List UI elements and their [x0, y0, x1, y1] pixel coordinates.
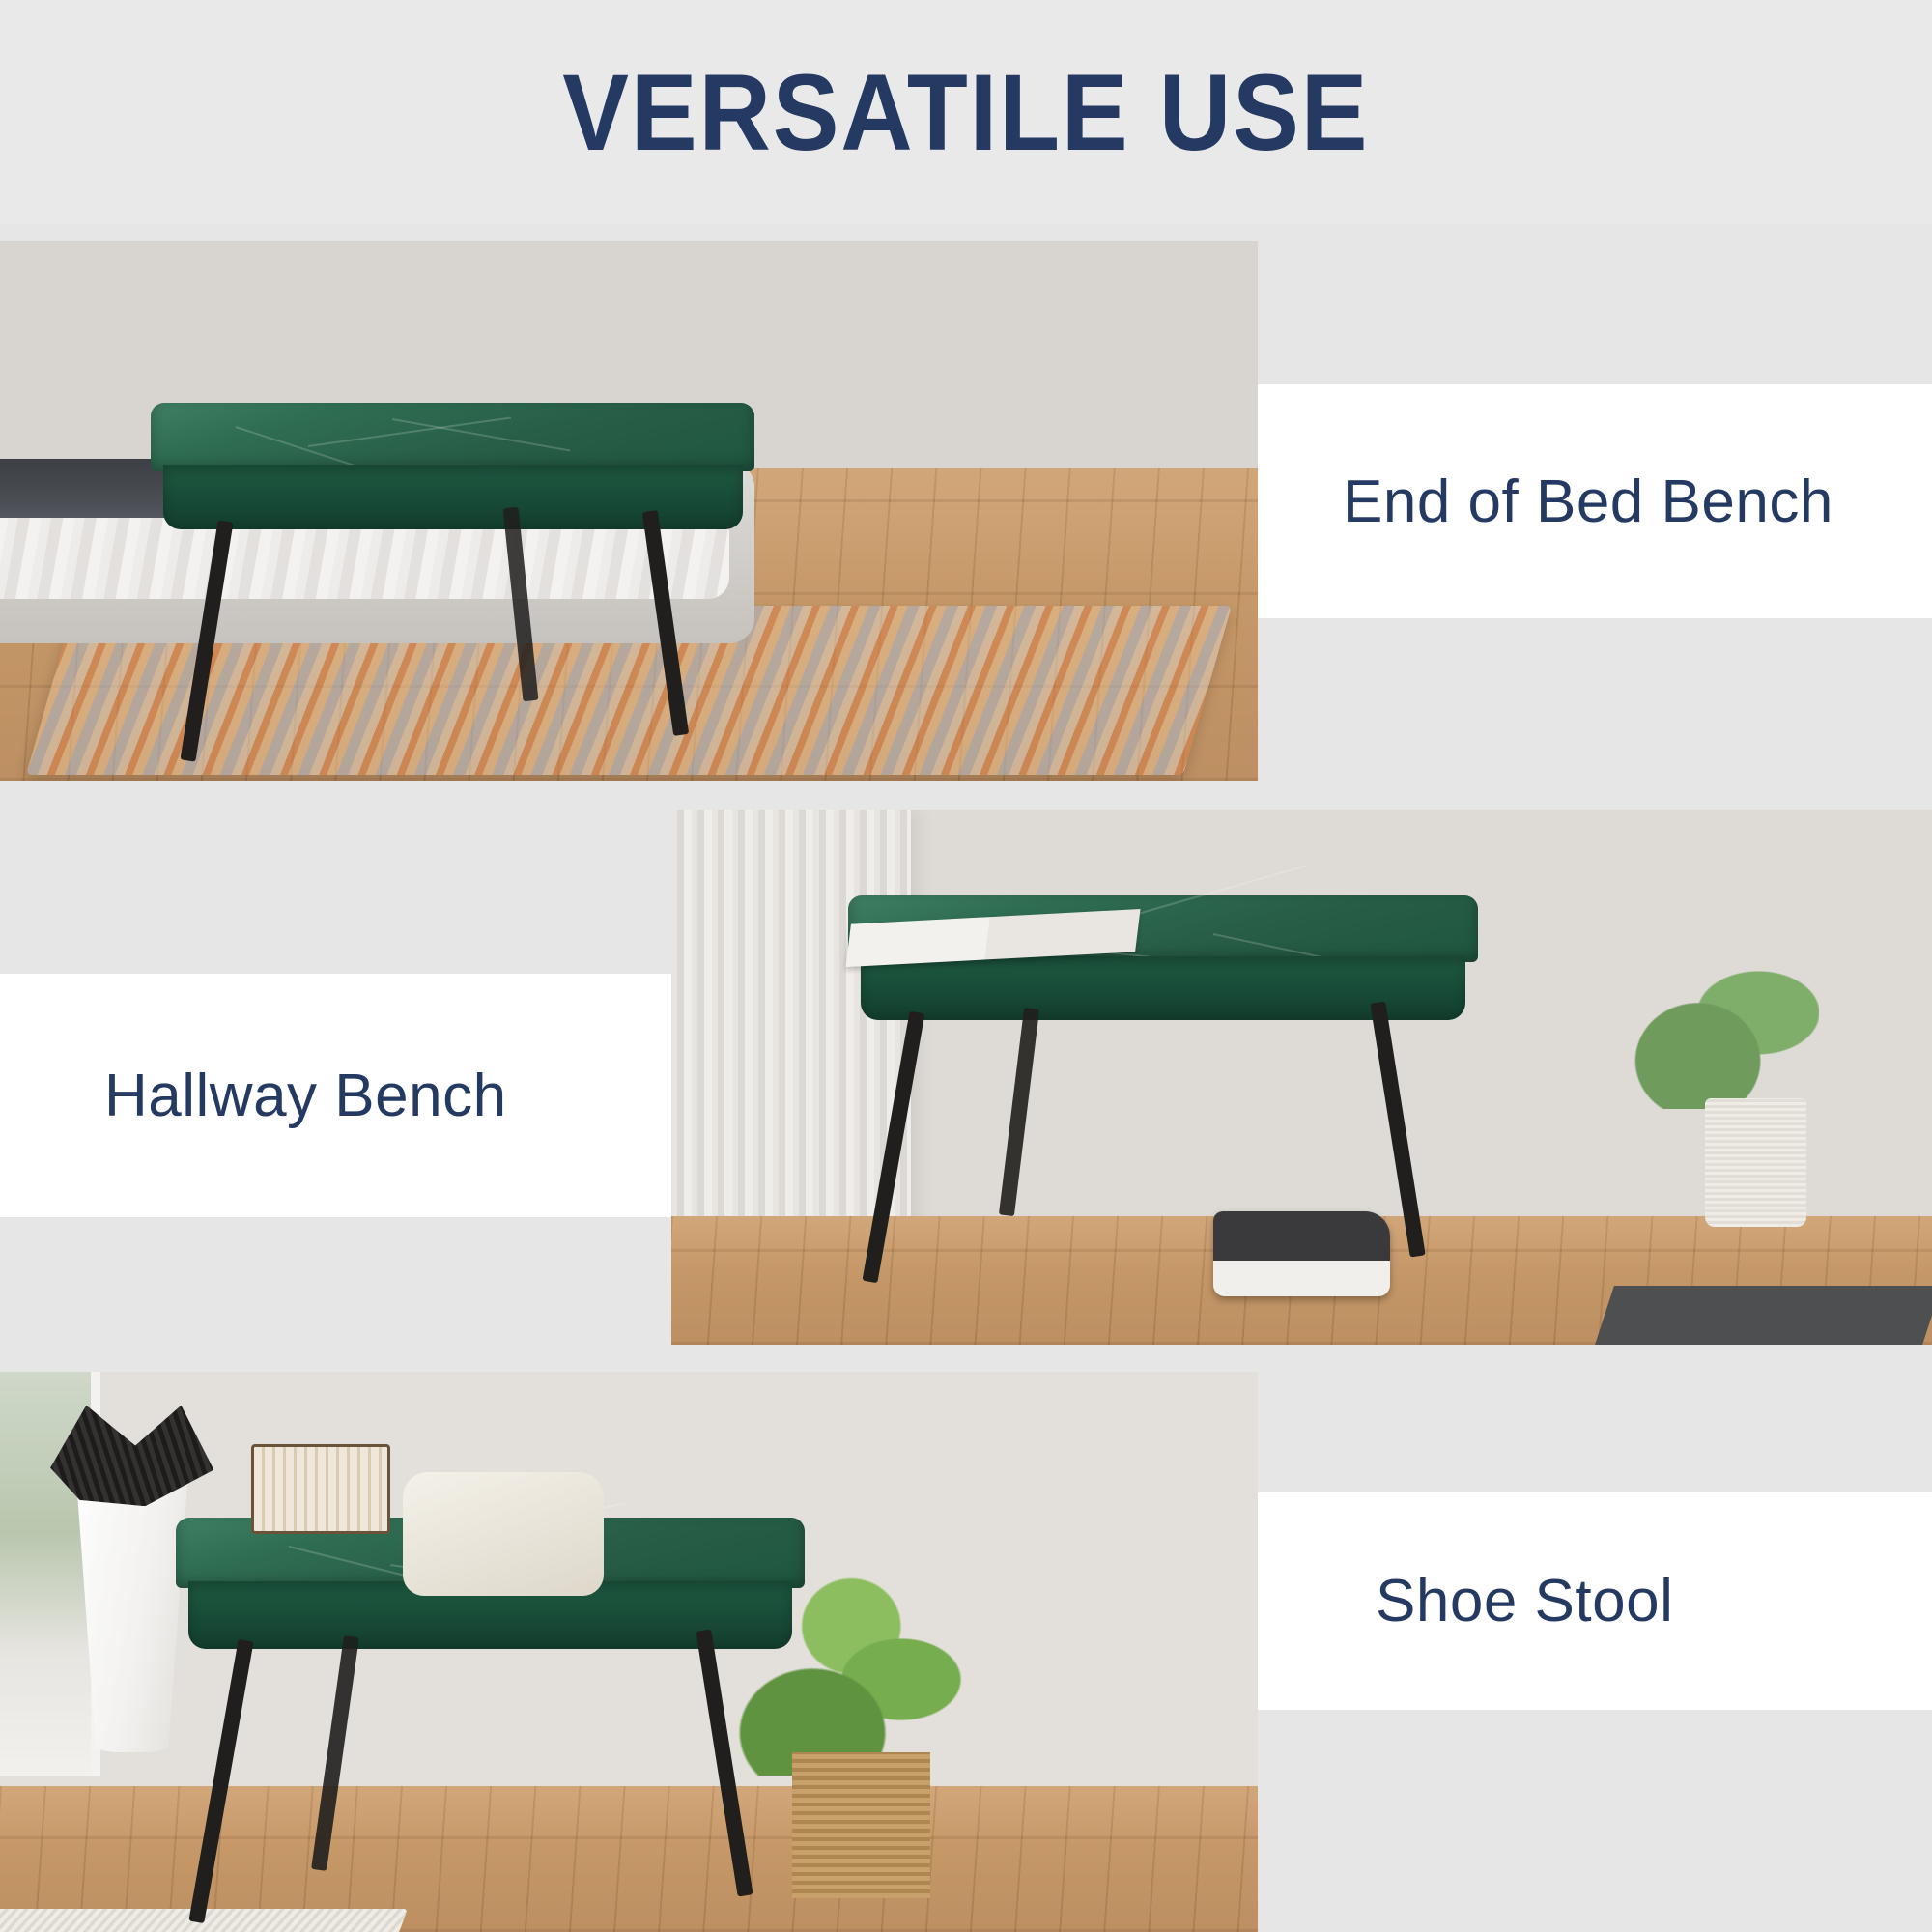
handbag — [251, 1444, 389, 1534]
product-bench — [151, 403, 754, 564]
grey-rug — [1595, 1286, 1932, 1345]
scene-image-end-of-bed-bench — [0, 241, 1258, 781]
scene-artwork — [671, 810, 1932, 1345]
slatted-planter — [792, 1752, 930, 1898]
woven-planter — [1705, 1098, 1805, 1227]
scene-image-shoe-stool — [0, 1372, 1258, 1932]
bench-seat — [151, 403, 754, 470]
label-band-hallway-bench: Hallway Bench — [0, 974, 671, 1217]
wood-floor — [0, 1786, 1258, 1932]
label-band-shoe-stool: Shoe Stool — [1258, 1492, 1932, 1710]
sneakers — [1213, 1211, 1390, 1297]
bench-seam — [392, 418, 571, 452]
title-bar: VERSATILE USE — [0, 0, 1932, 224]
label-shoe-stool: Shoe Stool — [1376, 1567, 1673, 1635]
label-hallway-bench: Hallway Bench — [104, 1062, 507, 1130]
label-end-of-bed-bench: End of Bed Bench — [1343, 468, 1833, 536]
cushion — [403, 1472, 604, 1596]
scene-artwork — [0, 241, 1258, 781]
plant-foliage — [1617, 949, 1819, 1109]
scene-artwork — [0, 1372, 1258, 1932]
label-band-end-of-bed-bench: End of Bed Bench — [1258, 384, 1932, 618]
page-title: VERSATILE USE — [562, 50, 1369, 175]
scene-image-hallway-bench — [671, 810, 1932, 1345]
